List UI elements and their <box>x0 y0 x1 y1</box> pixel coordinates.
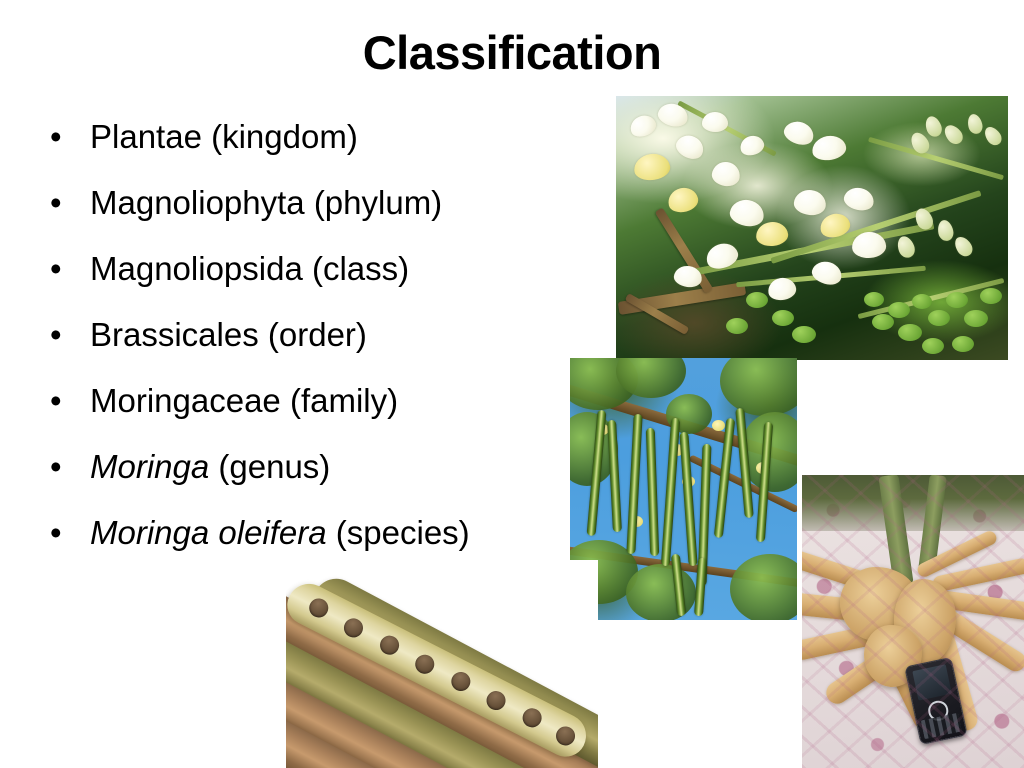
flower-bud <box>966 113 984 136</box>
soil-strip <box>802 475 1024 531</box>
leaflet <box>912 294 932 309</box>
blossom <box>810 133 848 163</box>
flower-bud <box>895 234 918 260</box>
stalk <box>878 475 913 586</box>
bullet-icon: • <box>50 170 62 236</box>
list-item-order: • Brassicales (order) <box>42 302 602 368</box>
flower-bud <box>923 114 944 139</box>
seed-pod <box>679 432 697 566</box>
presentation-slide: Classification • Plantae (kingdom) • Mag… <box>0 0 1024 768</box>
seed-pod <box>626 414 642 554</box>
blossom <box>710 160 741 188</box>
flower-bud <box>941 122 966 148</box>
root-arm <box>931 603 1024 675</box>
page-title: Classification <box>0 28 1024 77</box>
foliage <box>730 554 797 620</box>
list-item-class: • Magnoliopsida (class) <box>42 236 602 302</box>
phone-nav-ring-icon <box>926 699 949 722</box>
seed <box>553 723 579 749</box>
seed <box>377 632 403 658</box>
leaflet <box>980 288 1002 304</box>
blossom <box>673 131 708 162</box>
foliage <box>720 358 797 416</box>
list-item-label: Moringaceae (family) <box>90 382 398 419</box>
bullet-icon: • <box>50 368 62 434</box>
seed <box>448 669 474 695</box>
blossom <box>632 152 671 183</box>
flower-bud <box>936 219 955 243</box>
seed-pod <box>646 428 659 556</box>
blossom <box>702 112 728 132</box>
root-arm <box>937 590 1024 622</box>
seed-pod <box>661 418 680 566</box>
root-crown <box>894 579 956 665</box>
blossom <box>755 220 789 247</box>
seed-pod <box>607 420 622 532</box>
bullet-icon: • <box>50 104 62 170</box>
list-item-label: Magnoliophyta (phylum) <box>90 184 442 221</box>
root-arm <box>802 547 888 596</box>
genus-name: Moringa <box>90 448 209 485</box>
seed <box>483 688 509 714</box>
bullet-icon: • <box>50 302 62 368</box>
mobile-phone <box>904 657 968 745</box>
dried-pods-scene <box>286 560 598 768</box>
root-arm <box>802 620 897 661</box>
list-item-species: • Moringa oleifera (species) <box>42 500 602 566</box>
phone-screen <box>912 665 952 701</box>
blossom <box>728 197 766 229</box>
blossom <box>666 185 701 216</box>
stalk <box>918 475 947 572</box>
root-crown <box>864 625 922 687</box>
leaflet <box>946 292 968 308</box>
bullet-icon: • <box>50 500 62 566</box>
bullet-icon: • <box>50 236 62 302</box>
list-item-phylum: • Magnoliophyta (phylum) <box>42 170 602 236</box>
bullet-icon: • <box>50 434 62 500</box>
flower-bud <box>981 124 1004 148</box>
leaflet <box>964 310 988 327</box>
list-item-label: Plantae (kingdom) <box>90 118 358 155</box>
leaflet <box>952 336 974 352</box>
leaflet <box>792 326 816 343</box>
leaflet <box>772 310 794 326</box>
photo-moringa-roots <box>802 475 1024 768</box>
leaflet <box>726 318 748 334</box>
leaflet <box>898 324 922 341</box>
yellow-flower <box>712 420 725 431</box>
seed <box>341 615 367 641</box>
seed <box>519 705 545 731</box>
list-item-label: Magnoliopsida (class) <box>90 250 409 287</box>
flower-bud <box>951 234 975 260</box>
list-item-label: Brassicales (order) <box>90 316 367 353</box>
blossom <box>781 118 816 148</box>
list-item-family: • Moringaceae (family) <box>42 368 602 434</box>
blossom <box>793 188 827 216</box>
root-arm <box>928 619 980 733</box>
photo-split-pod-seeds <box>286 560 598 768</box>
species-name: Moringa oleifera <box>90 514 327 551</box>
roots-scene <box>802 475 1024 768</box>
leaflet <box>746 292 768 308</box>
genus-rank: (genus) <box>218 448 330 485</box>
seed <box>306 595 332 621</box>
phone-keypad <box>921 713 963 739</box>
root-arm <box>931 557 1024 593</box>
root-arm <box>822 636 914 708</box>
root-arm <box>875 633 940 733</box>
root-crown <box>840 567 918 641</box>
flowers-scene <box>616 96 1008 360</box>
stem <box>868 137 1004 180</box>
root-arm <box>802 591 893 625</box>
list-item-genus: • Moringa (genus) <box>42 434 602 500</box>
pods-scene <box>570 358 797 620</box>
photo-moringa-flowers <box>616 96 1008 360</box>
classification-bullet-list: • Plantae (kingdom) • Magnoliophyta (phy… <box>42 104 602 566</box>
leaflet <box>888 302 910 318</box>
seed <box>412 651 438 677</box>
leaflet <box>864 292 884 307</box>
leaflet <box>872 314 894 330</box>
blossom <box>627 112 659 140</box>
species-rank: (species) <box>336 514 470 551</box>
root-arm <box>915 529 998 579</box>
photo-moringa-pods <box>570 358 797 620</box>
blossom <box>810 258 845 287</box>
blossom <box>842 185 876 213</box>
leaflet <box>922 338 944 354</box>
leaflet <box>928 310 950 326</box>
list-item-kingdom: • Plantae (kingdom) <box>42 104 602 170</box>
